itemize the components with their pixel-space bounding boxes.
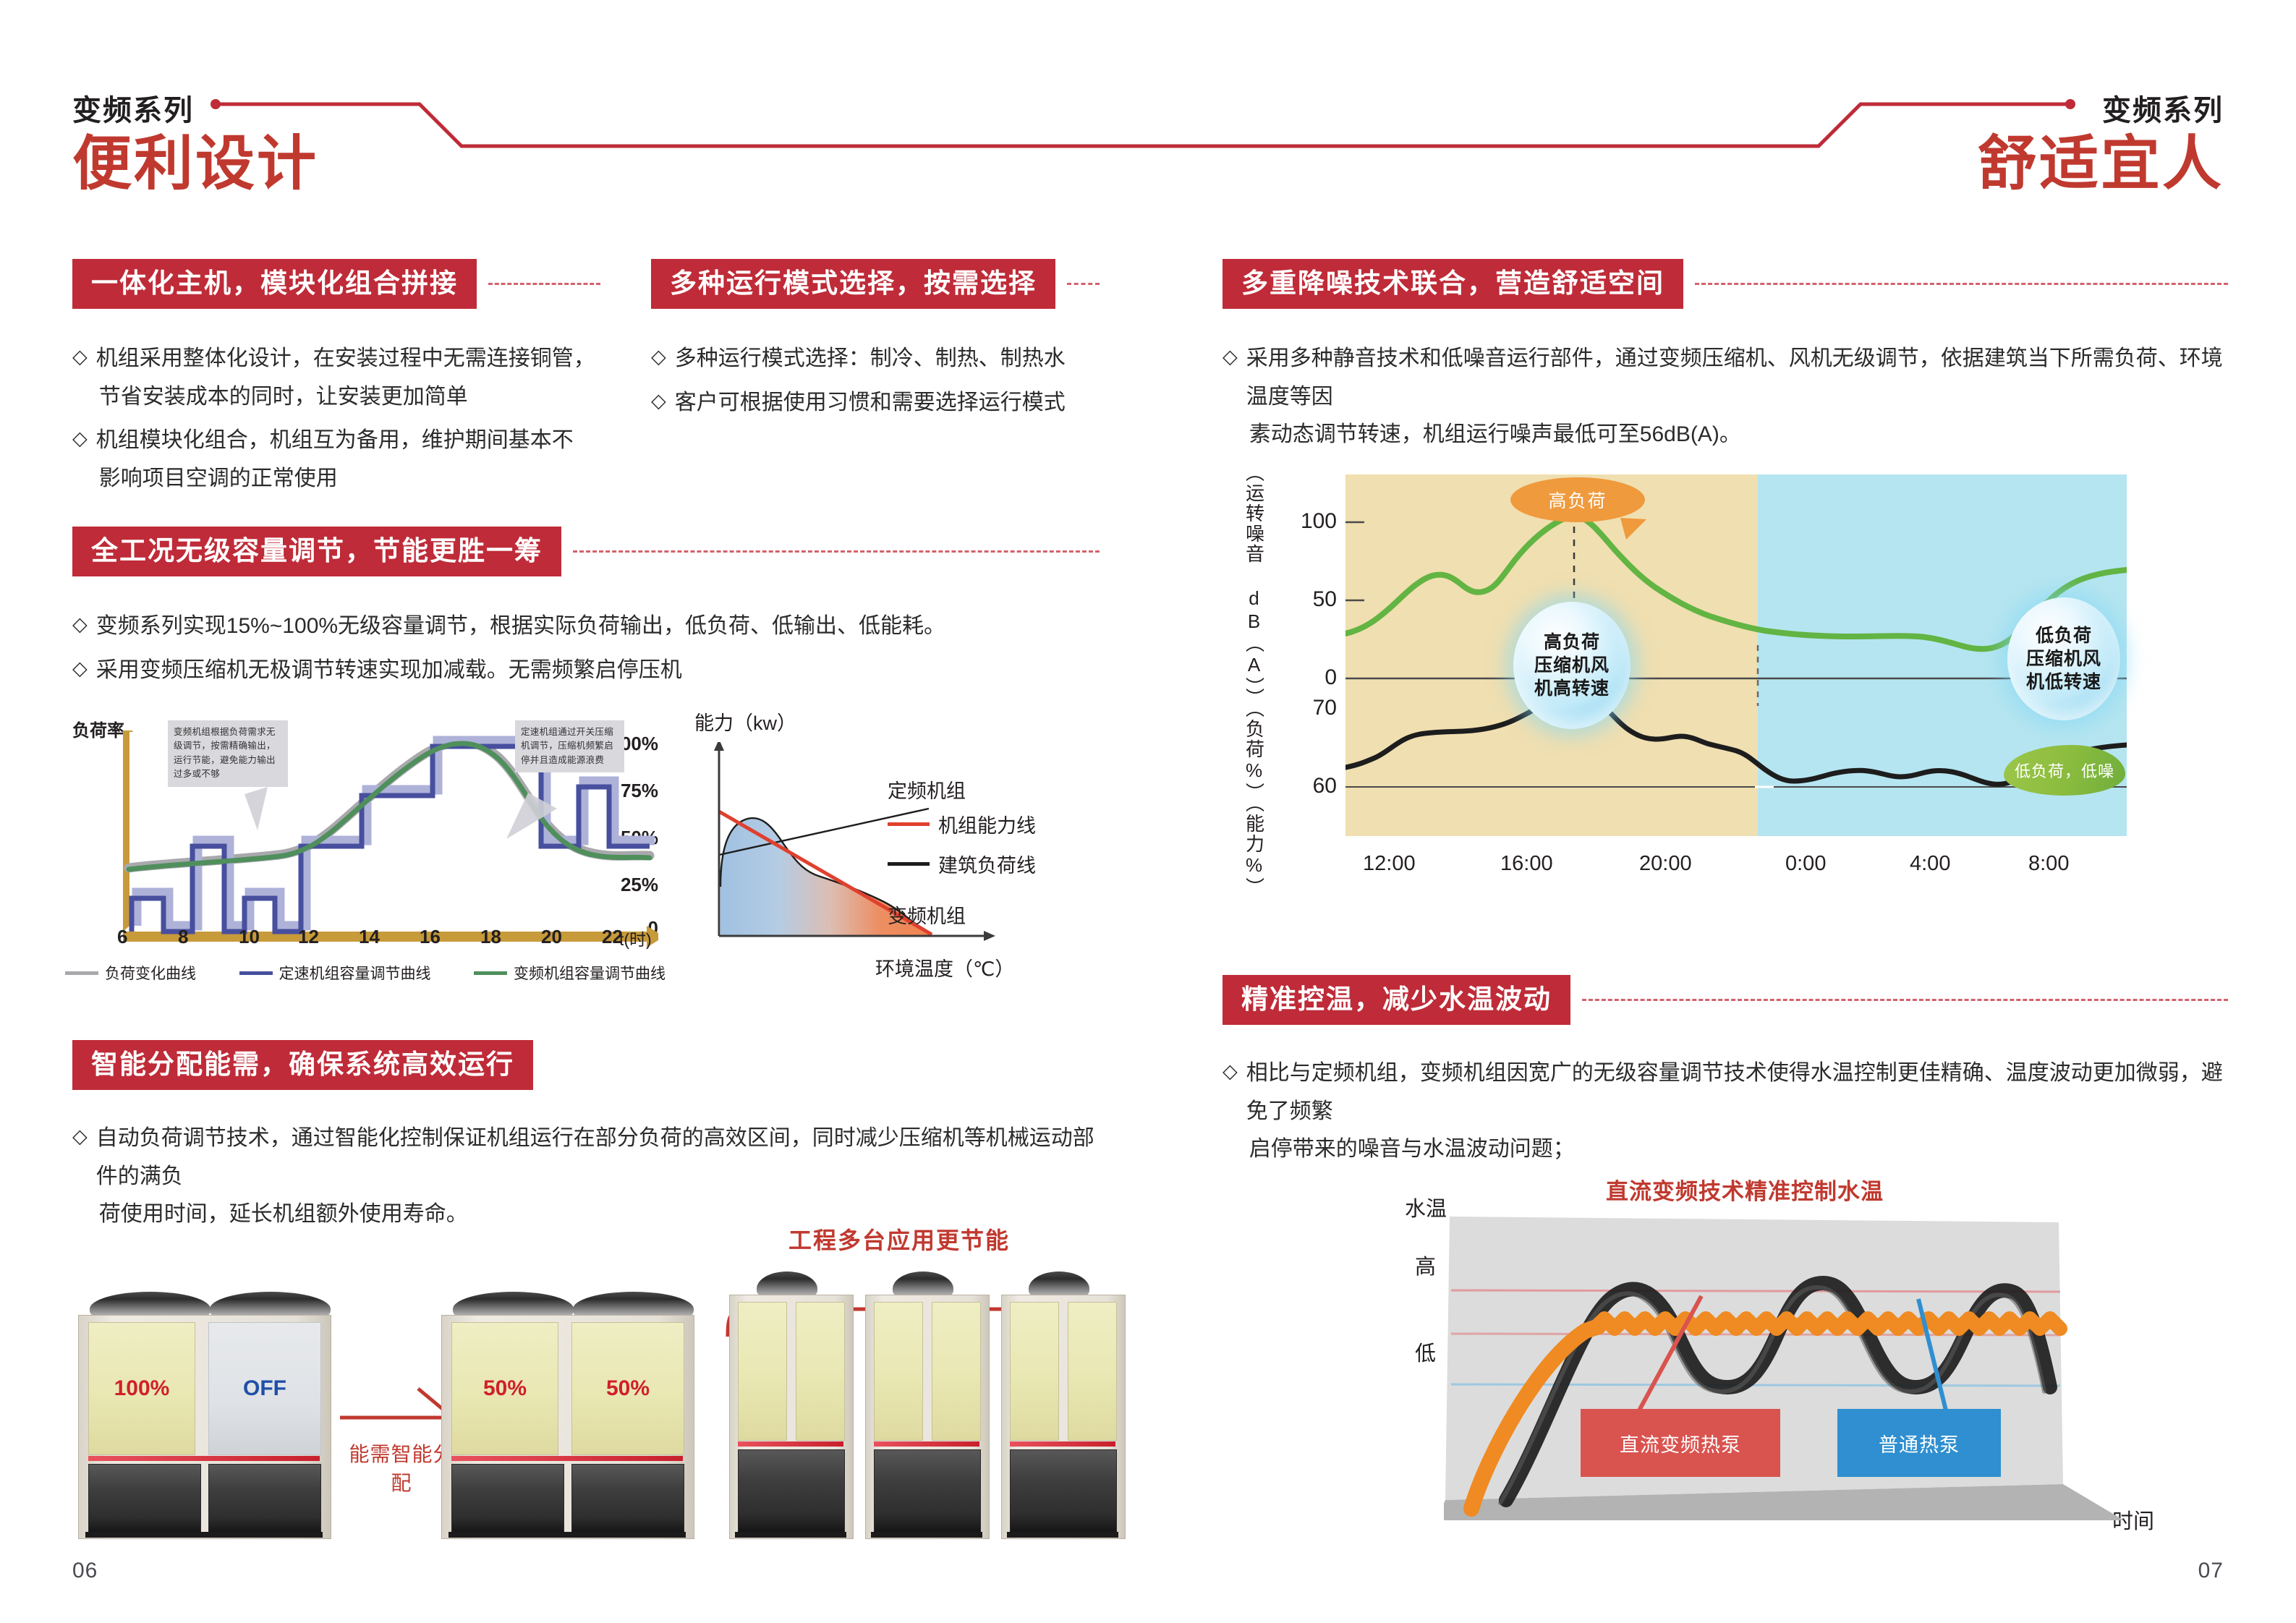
section-dotted-rule xyxy=(1695,283,2228,285)
brace-label-multi-unit: 工程多台应用更节能 xyxy=(788,1222,1010,1256)
header-rule-right xyxy=(1165,94,2076,174)
section-dotted-rule xyxy=(573,550,1100,553)
section-title-smart-allocation: 智能分配能需，确保系统高效运行 xyxy=(72,1040,521,1090)
callout-high-load-bubble: 高负荷压缩机风机高转速 xyxy=(1513,602,1630,729)
chart-load-noise-24h: （运转噪音 dB（A））（负荷%）（能力%） 100 50 0 70 60 高负… xyxy=(1230,448,2242,911)
legend-label: 机组能力线 xyxy=(938,810,1036,838)
diamond-icon: ◇ xyxy=(651,384,666,418)
chart-legend-capability: 机组能力线 建筑负荷线 xyxy=(888,810,1036,890)
x-tick-1200: 12:00 xyxy=(1363,852,1416,876)
unit-load-label: 100% xyxy=(114,1376,170,1401)
chart-annotation-fixed-speed: 定速机组通过开关压缩机调节，压缩机频繁启停并且造成能源浪费 xyxy=(515,720,624,772)
bullets-precise-temp-control: ◇ 相比与定频机组，变频机组因宽广的无级容量调节技术使得水温控制更佳精确、温度波… xyxy=(1223,1055,2235,1175)
legend-item-capability-line: 机组能力线 xyxy=(888,810,1036,838)
header-rule-left xyxy=(210,94,1165,174)
axis-label-y: 能力（kw） xyxy=(694,707,796,736)
section-title-text: 智能分配能需，确保系统高效运行 xyxy=(72,1040,533,1090)
section-dotted-rule xyxy=(1582,999,2228,1001)
list-item: ◇ 变频系列实现15%~100%无级容量调节，根据实际负荷输出，低负荷、低输出、… xyxy=(72,608,1107,646)
page-number-right: 07 xyxy=(2198,1559,2224,1583)
diamond-icon: ◇ xyxy=(72,340,88,374)
bullet-line-1: 采用变频压缩机无极调节转速实现加减载。无需频繁启停压机 xyxy=(96,652,1107,690)
legend-label: 负荷变化曲线 xyxy=(105,962,196,984)
series-label-inverter: 变频机组 xyxy=(888,900,966,929)
bullet-line-2: 节省安装成本的同时，让安装更加简单 xyxy=(96,378,629,417)
unit-group-before: 100% OFF xyxy=(78,1292,330,1538)
legend-item-load-curve: 负荷变化曲线 xyxy=(65,962,196,984)
leader-line-ordinary xyxy=(1837,1295,1997,1425)
legend-item-fixed-speed: 定速机组容量调节曲线 xyxy=(239,962,431,984)
bullets-operation-modes: ◇ 多种运行模式选择：制冷、制热、制热水 ◇ 客户可根据使用习惯和需要选择运行模… xyxy=(651,340,1100,427)
bullet-line-1: 采用多种静音技术和低噪音运行部件，通过变频压缩机、风机无级调节，依据建筑当下所需… xyxy=(1246,346,2223,409)
bullet-line-1: 相比与定频机组，变频机组因宽广的无级容量调节技术使得水温控制更佳精确、温度波动更… xyxy=(1246,1061,2223,1123)
x-tick-16: 16 xyxy=(420,926,441,948)
tag-label: 直流变频热泵 xyxy=(1620,1429,1741,1457)
water-temp-plot xyxy=(1444,1217,2131,1520)
list-item: ◇ 自动负荷调节技术，通过智能化控制保证机组运行在部分负荷的高效区间，同时减少压… xyxy=(72,1120,1100,1234)
section-title-text: 一体化主机，模块化组合拼接 xyxy=(72,259,477,309)
bullets-capacity-control: ◇ 变频系列实现15%~100%无级容量调节，根据实际负荷输出，低负荷、低输出、… xyxy=(72,608,1107,695)
bullet-line-1: 客户可根据使用习惯和需要选择运行模式 xyxy=(675,384,1100,422)
section-dotted-rule xyxy=(488,283,600,285)
list-item: ◇ 客户可根据使用习惯和需要选择运行模式 xyxy=(651,384,1100,422)
section-title-noise-reduction: 多重降噪技术联合，营造舒适空间 xyxy=(1223,259,2228,309)
legend-swatch xyxy=(474,971,507,975)
bullet-line-1: 机组采用整体化设计，在安装过程中无需连接铜管， xyxy=(96,346,595,370)
legend-swatch xyxy=(65,971,98,975)
x-tick-1600: 16:00 xyxy=(1500,852,1553,876)
x-tick-20: 20 xyxy=(541,926,562,948)
diamond-icon: ◇ xyxy=(72,422,88,456)
chart-load-rate: 负荷率 100% 75% 50% 25% 0 变频机组根据负荷需求无级调节，按需… xyxy=(65,709,658,984)
axis-label-y-combined: （运转噪音 dB（A））（负荷%）（能力%） xyxy=(1234,477,1275,882)
chart-annotation-inverter: 变频机组根据负荷需求无级调节，按需精确输出，运行节能，避免能力输出过多或不够 xyxy=(168,720,288,787)
x-tick-8: 8 xyxy=(178,926,188,948)
axis-label-x: 环境温度（℃） xyxy=(875,953,1014,981)
unit-panel-100: 100% xyxy=(88,1322,195,1455)
axis-label-y: 水温 xyxy=(1405,1192,1447,1222)
bullet-line-2: 影响项目空调的正常使用 xyxy=(96,460,629,498)
x-tick-18: 18 xyxy=(480,926,501,948)
tag-dc-inverter-heat-pump: 直流变频热泵 xyxy=(1581,1409,1780,1477)
legend-label: 变频机组容量调节曲线 xyxy=(514,962,666,984)
section-title-capacity-control: 全工况无级容量调节，节能更胜一筹 xyxy=(72,527,1100,576)
chart-title: 直流变频技术精准控制水温 xyxy=(1606,1173,1884,1206)
unit-multi-2 xyxy=(865,1271,988,1538)
x-tick-0400: 4:00 xyxy=(1910,852,1950,876)
chart-water-temperature: 直流变频技术精准控制水温 水温 高 低 时间 直流变频热泵 普通热泵 xyxy=(1374,1157,2228,1533)
list-item: ◇ 多种运行模式选择：制冷、制热、制热水 xyxy=(651,340,1100,378)
legend-label: 建筑负荷线 xyxy=(938,850,1036,878)
bullet-line-1: 多种运行模式选择：制冷、制热、制热水 xyxy=(675,340,1100,378)
unit-multi-3 xyxy=(1001,1271,1124,1538)
callout-text: 高负荷压缩机风机高转速 xyxy=(1534,631,1610,700)
x-tick-12: 12 xyxy=(298,926,319,948)
y-tick-high: 高 xyxy=(1415,1250,1436,1280)
callout-low-load-bubble: 低负荷压缩机风机低转速 xyxy=(2007,597,2120,720)
legend-swatch xyxy=(239,971,273,975)
section-title-operation-modes: 多种运行模式选择，按需选择 xyxy=(651,259,1100,309)
callout-text: 低负荷压缩机风机低转速 xyxy=(2026,624,2101,694)
x-tick-2000: 20:00 xyxy=(1639,852,1692,876)
bullet-line-1: 变频系列实现15%~100%无级容量调节，根据实际负荷输出，低负荷、低输出、低能… xyxy=(96,608,1107,646)
diamond-icon: ◇ xyxy=(72,652,88,686)
diamond-icon: ◇ xyxy=(651,340,666,374)
legend-item-building-load-line: 建筑负荷线 xyxy=(888,850,1036,878)
section-title-text: 多种运行模式选择，按需选择 xyxy=(651,259,1055,309)
list-item: ◇ 采用多种静音技术和低噪音运行部件，通过变频压缩机、风机无级调节，依据建筑当下… xyxy=(1223,340,2235,454)
x-tick-0000: 0:00 xyxy=(1785,852,1826,876)
page-number-left: 06 xyxy=(72,1559,98,1583)
callout-pill-tail xyxy=(1620,518,1654,542)
unit-panel-50-a: 50% xyxy=(451,1322,558,1455)
callout-text: 低负荷，低噪 xyxy=(2015,759,2114,782)
list-item: ◇ 机组模块化组合，机组互为备用，维护期间基本不影响项目空调的正常使用 xyxy=(72,422,629,498)
list-item: ◇ 采用变频压缩机无极调节转速实现加减载。无需频繁启停压机 xyxy=(72,652,1107,690)
section-dotted-rule xyxy=(1067,283,1100,285)
unit-multi-1 xyxy=(729,1271,852,1538)
callout-high-load-pill: 高负荷 xyxy=(1510,477,1645,522)
callout-text: 高负荷 xyxy=(1548,487,1607,513)
section-title-precise-temp-control: 精准控温，减少水温波动 xyxy=(1223,975,2228,1025)
y-tick-60: 60 xyxy=(1272,774,1337,798)
x-tick-6: 6 xyxy=(117,926,127,948)
section-title-integrated-unit: 一体化主机，模块化组合拼接 xyxy=(72,259,600,309)
legend-swatch xyxy=(888,862,930,866)
chart-legend-load-rate: 负荷变化曲线 定速机组容量调节曲线 变频机组容量调节曲线 xyxy=(65,962,666,984)
tag-label: 普通热泵 xyxy=(1879,1429,1960,1457)
y-tick-70: 70 xyxy=(1272,696,1337,720)
y-tick-50: 50 xyxy=(1272,587,1337,612)
unit-load-label: 50% xyxy=(606,1376,650,1401)
section-title-text: 全工况无级容量调节，节能更胜一筹 xyxy=(72,527,561,576)
list-item: ◇ 机组采用整体化设计，在安装过程中无需连接铜管，节省安装成本的同时，让安装更加… xyxy=(72,340,629,416)
bullet-line-1: 自动负荷调节技术，通过智能化控制保证机组运行在部分负荷的高效区间，同时减少压缩机… xyxy=(96,1126,1094,1188)
bullets-integrated-unit: ◇ 机组采用整体化设计，在安装过程中无需连接铜管，节省安装成本的同时，让安装更加… xyxy=(72,340,629,503)
series-label-fixed-speed: 定频机组 xyxy=(888,775,966,804)
unit-panel-off: OFF xyxy=(208,1322,321,1455)
diamond-icon: ◇ xyxy=(1223,340,1238,374)
leader-line-dc-inverter xyxy=(1591,1295,1765,1425)
bullet-line-1: 机组模块化组合，机组互为备用，维护期间基本不 xyxy=(96,428,574,452)
diamond-icon: ◇ xyxy=(72,608,88,642)
bullets-noise-reduction: ◇ 采用多种静音技术和低噪音运行部件，通过变频压缩机、风机无级调节，依据建筑当下… xyxy=(1223,340,2235,460)
diamond-icon: ◇ xyxy=(1223,1055,1238,1089)
unit-load-label: 50% xyxy=(483,1376,527,1401)
legend-swatch xyxy=(888,822,930,826)
legend-label: 定速机组容量调节曲线 xyxy=(279,962,431,984)
section-title-text: 精准控温，减少水温波动 xyxy=(1223,975,1570,1025)
y-tick-0: 0 xyxy=(1272,665,1337,690)
tag-ordinary-heat-pump: 普通热泵 xyxy=(1837,1409,2001,1477)
diamond-icon: ◇ xyxy=(72,1120,88,1154)
axis-label-x: t(时) xyxy=(619,926,652,950)
y-tick-100: 100 xyxy=(1272,509,1337,534)
axis-label-y: 负荷率 xyxy=(72,716,124,741)
unit-group-after: 50% 50% xyxy=(441,1292,693,1538)
x-tick-0800: 8:00 xyxy=(2028,852,2069,876)
x-tick-10: 10 xyxy=(239,926,260,948)
x-tick-14: 14 xyxy=(359,926,380,948)
unit-state-label: OFF xyxy=(243,1376,286,1401)
chart-capability-temperature: 能力（kw） 定频机组 变频机组 机组能力线 xyxy=(680,694,1114,984)
y-tick-low: 低 xyxy=(1415,1337,1436,1367)
section-title-text: 多重降噪技术联合，营造舒适空间 xyxy=(1223,259,1683,309)
unit-panel-50-b: 50% xyxy=(571,1322,684,1455)
list-item: ◇ 相比与定频机组，变频机组因宽广的无级容量调节技术使得水温控制更佳精确、温度波… xyxy=(1223,1055,2235,1169)
bullets-smart-allocation: ◇ 自动负荷调节技术，通过智能化控制保证机组运行在部分负荷的高效区间，同时减少压… xyxy=(72,1120,1100,1240)
legend-item-inverter: 变频机组容量调节曲线 xyxy=(474,962,666,984)
